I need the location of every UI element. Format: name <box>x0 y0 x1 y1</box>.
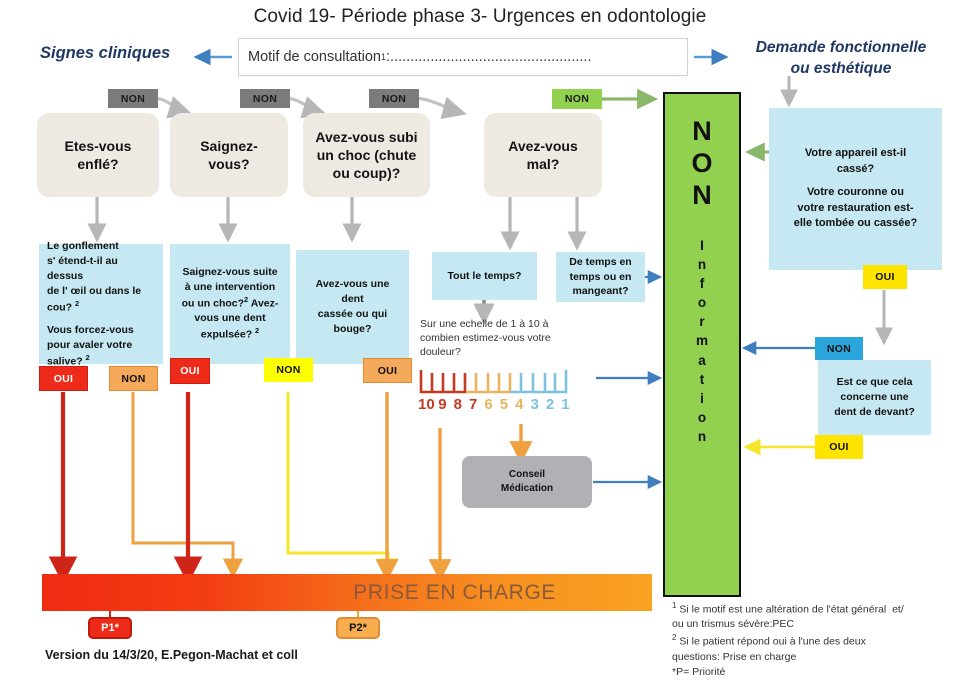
subbox-dent-cassee-text: Avez-vous une dent cassée ou qui bouge? <box>304 277 401 337</box>
s-l2: à une intervention <box>185 281 275 293</box>
question-box-saignez[interactable]: Saignez- vous? <box>170 113 288 197</box>
non-tab-4[interactable]: NON <box>552 89 602 109</box>
label-signes-cliniques: Signes cliniques <box>40 44 190 63</box>
motif-dots: :.......................................… <box>386 49 591 65</box>
g-l4: cou? <box>47 301 75 313</box>
green-col-info-letter-8: i <box>700 389 704 408</box>
subbox-gonflement-p2: Vous forcez-vous pour avaler votre saliv… <box>47 323 155 369</box>
pain-scale-value-7: 7 <box>465 396 480 416</box>
s-l5: vous une dent <box>194 312 265 324</box>
demande-line-2: ou esthétique <box>722 59 960 80</box>
subbox-saignez-detail[interactable]: Saignez-vous suite à une intervention ou… <box>170 244 290 364</box>
ap-l2: cassé? <box>837 163 874 175</box>
non-tab-1[interactable]: NON <box>108 89 158 108</box>
g-l6: pour avaler votre <box>47 339 132 351</box>
subbox-dent-devant-text: Est ce que cela concerne une dent de dev… <box>826 375 923 420</box>
subbox-detemps-text: De temps en temps ou en mangeant? <box>564 255 637 300</box>
dd-l1: Est ce que cela <box>837 376 913 388</box>
echelle-line1: Sur une echelle de 1 à 10 à <box>420 318 585 332</box>
pain-scale-value-9: 9 <box>435 396 450 416</box>
question-saignez-line2: vous? <box>200 155 258 173</box>
green-col-info-letter-5: m <box>696 331 708 350</box>
green-col-info-letter-2: f <box>700 274 705 293</box>
green-col-info-letter-4: r <box>699 312 704 331</box>
arrow-non2-route-to-pec <box>288 392 388 568</box>
dd-l3: dent de devant? <box>834 406 915 418</box>
question-box-enfle[interactable]: Etes-vous enflé? <box>37 113 159 197</box>
priority-flag-p1[interactable]: P1* <box>88 617 132 639</box>
g-l5: Vous forcez-vous <box>47 324 134 336</box>
subbox-appareil-p1: Votre appareil est-il cassé? <box>777 146 934 177</box>
echelle-douleur-instruction: Sur une echelle de 1 à 10 à combien esti… <box>420 318 585 360</box>
conseil-medication-box[interactable]: Conseil Médication <box>462 456 592 508</box>
green-col-info-letter-9: o <box>698 408 706 427</box>
conseil-line1: Conseil <box>501 468 553 483</box>
footnote-1: 1 Si le motif est une altération de l'ét… <box>672 600 957 632</box>
green-col-info-letter-0: I <box>700 236 704 255</box>
subbox-dent-cassee[interactable]: Avez-vous une dent cassée ou qui bouge? <box>296 250 409 364</box>
question-box-mal[interactable]: Avez-vous mal? <box>484 113 602 197</box>
motif-de-consultation-field[interactable]: Motif de consultation1:.................… <box>238 38 688 76</box>
ap-l1: Votre appareil est-il <box>805 147 906 159</box>
arrow-non1-route-to-pec <box>133 392 233 568</box>
g-sup1: 2 <box>75 299 79 308</box>
motif-label: Motif de consultation <box>248 49 381 65</box>
green-col-letter-N1: N <box>692 116 712 148</box>
footnote-2-text: Si le patient répond oui à l'une des deu… <box>672 636 866 663</box>
s-l3: ou un choc? <box>182 298 244 310</box>
page-title: Covid 19- Période phase 3- Urgences en o… <box>150 6 810 28</box>
dc-l1: Avez-vous une dent <box>316 278 390 305</box>
pain-scale-value-2: 2 <box>542 396 557 416</box>
diagram-canvas: Covid 19- Période phase 3- Urgences en o… <box>0 0 960 672</box>
chip-non-appareil[interactable]: NON <box>815 337 863 360</box>
subbox-appareil-p2: Votre couronne ou votre restauration est… <box>777 185 934 232</box>
dc-l2: cassée ou qui <box>318 308 387 320</box>
green-col-info-letter-7: t <box>700 370 705 389</box>
question-choc-line1: Avez-vous subi <box>315 128 417 146</box>
non-tab-2[interactable]: NON <box>240 89 290 108</box>
pain-scale-numbers[interactable]: 10 9 8 7 6 5 4 3 2 1 <box>418 396 573 416</box>
ap-l5: elle tombée ou cassée? <box>794 217 918 229</box>
question-saignez-line1: Saignez- <box>200 137 258 155</box>
question-box-choc[interactable]: Avez-vous subi un choc (chute ou coup)? <box>303 113 430 197</box>
label-demande-fonctionnelle: Demande fonctionnelle ou esthétique <box>722 38 960 80</box>
dt-l2: temps ou en <box>570 271 632 283</box>
pain-scale-value-6: 6 <box>481 396 496 416</box>
prise-en-charge-label: PRISE EN CHARGE <box>353 581 556 605</box>
chip-oui-gonflement[interactable]: OUI <box>39 366 88 391</box>
chip-oui-appareil[interactable]: OUI <box>863 265 907 289</box>
dd-l2: concerne une <box>840 391 908 403</box>
chip-oui-saignez[interactable]: OUI <box>170 358 210 384</box>
dt-l3: mangeant? <box>572 285 628 297</box>
ap-l4: votre restauration est- <box>797 202 913 214</box>
green-col-info-letter-10: n <box>698 427 706 446</box>
arrow-non3-to-mal <box>412 98 462 113</box>
s-sup2: 2 <box>255 326 259 335</box>
chip-oui-dent-devant[interactable]: OUI <box>815 435 863 459</box>
echelle-line2: combien estimez-vous votre <box>420 332 585 346</box>
pain-scale-value-10: 10 <box>418 396 435 416</box>
question-enfle-line1: Etes-vous <box>65 137 132 155</box>
pain-scale-value-1: 1 <box>558 396 573 416</box>
subbox-tout-le-temps-text: Tout le temps? <box>440 269 529 284</box>
subbox-saignez-text: Saignez-vous suite à une intervention ou… <box>178 265 282 343</box>
prise-en-charge-bar: PRISE EN CHARGE <box>42 574 652 611</box>
green-col-letter-O: O <box>691 148 712 180</box>
question-choc-line3: ou coup)? <box>315 164 417 182</box>
green-col-info-letter-6: a <box>698 351 706 370</box>
pain-scale-value-4: 4 <box>512 396 527 416</box>
footnotes-block: 1 Si le motif est une altération de l'ét… <box>672 600 957 680</box>
footnote-3: *P= Priorité <box>672 665 957 680</box>
subbox-de-temps-en-temps[interactable]: De temps en temps ou en mangeant? <box>556 252 645 302</box>
chip-non-gonflement[interactable]: NON <box>109 366 158 391</box>
question-mal-line1: Avez-vous <box>508 137 578 155</box>
s-l4: Avez- <box>248 298 278 310</box>
g-l1: Le gonflement <box>47 240 119 252</box>
conseil-line2: Médication <box>501 482 553 497</box>
pain-scale-value-5: 5 <box>496 396 511 416</box>
footnote-2: 2 Si le patient répond oui à l'une des d… <box>672 632 957 664</box>
ap-l3: Votre couronne ou <box>807 186 904 198</box>
green-col-info-letter-3: o <box>698 293 706 312</box>
subbox-appareil[interactable]: Votre appareil est-il cassé? Votre couro… <box>769 108 942 270</box>
version-note: Version du 14/3/20, E.Pegon-Machat et co… <box>45 648 298 662</box>
echelle-line3: douleur? <box>420 346 585 360</box>
priority-flag-p2[interactable]: P2* <box>336 617 380 639</box>
s-l1: Saignez-vous suite <box>182 266 277 278</box>
pain-scale-value-8: 8 <box>450 396 465 416</box>
pain-scale-value-3: 3 <box>527 396 542 416</box>
demande-line-1: Demande fonctionnelle <box>722 38 960 59</box>
chip-oui-dent-cassee[interactable]: OUI <box>363 358 412 383</box>
g-sup2: 2 <box>86 353 90 362</box>
dc-l3: bouge? <box>334 323 372 335</box>
green-col-info-letter-1: n <box>698 255 706 274</box>
question-enfle-line2: enflé? <box>65 155 132 173</box>
non-tab-3[interactable]: NON <box>369 89 419 108</box>
g-l2: s' étend-t-il au dessus <box>47 255 118 282</box>
subbox-dent-de-devant[interactable]: Est ce que cela concerne une dent de dev… <box>818 360 931 435</box>
chip-non-dent-cassee[interactable]: NON <box>264 358 313 382</box>
footnote-1-text: Si le motif est une altération de l'état… <box>672 604 904 631</box>
dt-l1: De temps en <box>569 256 631 268</box>
g-l3: de l' œil ou dans le <box>47 285 141 297</box>
question-choc-line2: un choc (chute <box>315 146 417 164</box>
green-col-letter-N2: N <box>692 180 712 212</box>
subbox-gonflement-p1: Le gonflement s' étend-t-il au dessus de… <box>47 239 155 315</box>
subbox-gonflement[interactable]: Le gonflement s' étend-t-il au dessus de… <box>39 244 163 364</box>
s-l6: expulsée? <box>201 329 255 341</box>
non-information-column: N O N I n f o r m a t i o n <box>663 92 741 597</box>
subbox-tout-le-temps[interactable]: Tout le temps? <box>432 252 537 300</box>
question-mal-line2: mal? <box>508 155 578 173</box>
